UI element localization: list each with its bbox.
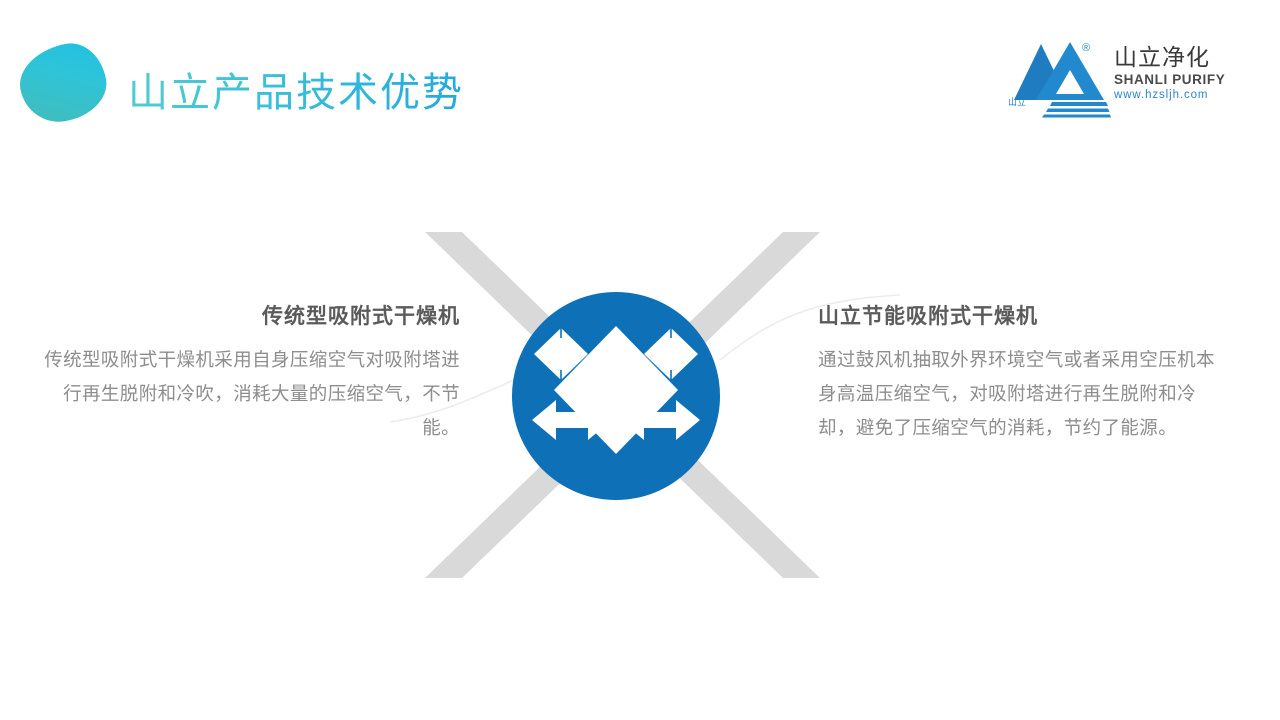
registered-trademark-icon: ® bbox=[1082, 42, 1090, 54]
brand-text-group: 山立净化 SHANLI PURIFY www.hzsljh.com bbox=[1114, 46, 1224, 103]
panel-shanli-body: 通过鼓风机抽取外界环境空气或者采用空压机本身高温压缩空气，对吸附塔进行再生脱附和… bbox=[818, 344, 1218, 447]
brand-name-cn: 山立净化 bbox=[1114, 46, 1224, 71]
panel-traditional-body: 传统型吸附式干燥机采用自身压缩空气对吸附塔进行再生脱附和冷吹，消耗大量的压缩空气… bbox=[35, 344, 460, 447]
panel-shanli-heading: 山立节能吸附式干燥机 bbox=[818, 300, 1218, 330]
compressed-air-flow-diamonds-icon bbox=[528, 312, 704, 480]
brand-name-en: SHANLI PURIFY bbox=[1114, 71, 1224, 89]
page-title: 山立产品技术优势 bbox=[128, 60, 464, 118]
brand-logo: ® 山立 山立净化 SHANLI PURIFY www.hzsljh.com bbox=[1008, 38, 1220, 124]
brand-website: www.hzsljh.com bbox=[1114, 88, 1224, 103]
panel-traditional-heading: 传统型吸附式干燥机 bbox=[35, 300, 460, 330]
panel-traditional: 传统型吸附式干燥机 传统型吸附式干燥机采用自身压缩空气对吸附塔进行再生脱附和冷吹… bbox=[35, 300, 460, 447]
logo-mark-sublabel: 山立 bbox=[1008, 98, 1026, 107]
slide-canvas: 山立产品技术优势 ® 山立 山立净化 SHANLI PURIFY www.hzs… bbox=[0, 0, 1280, 720]
panel-shanli-energy-saving: 山立节能吸附式干燥机 通过鼓风机抽取外界环境空气或者采用空压机本身高温压缩空气，… bbox=[818, 300, 1218, 447]
blob-decoration-icon bbox=[14, 38, 112, 128]
